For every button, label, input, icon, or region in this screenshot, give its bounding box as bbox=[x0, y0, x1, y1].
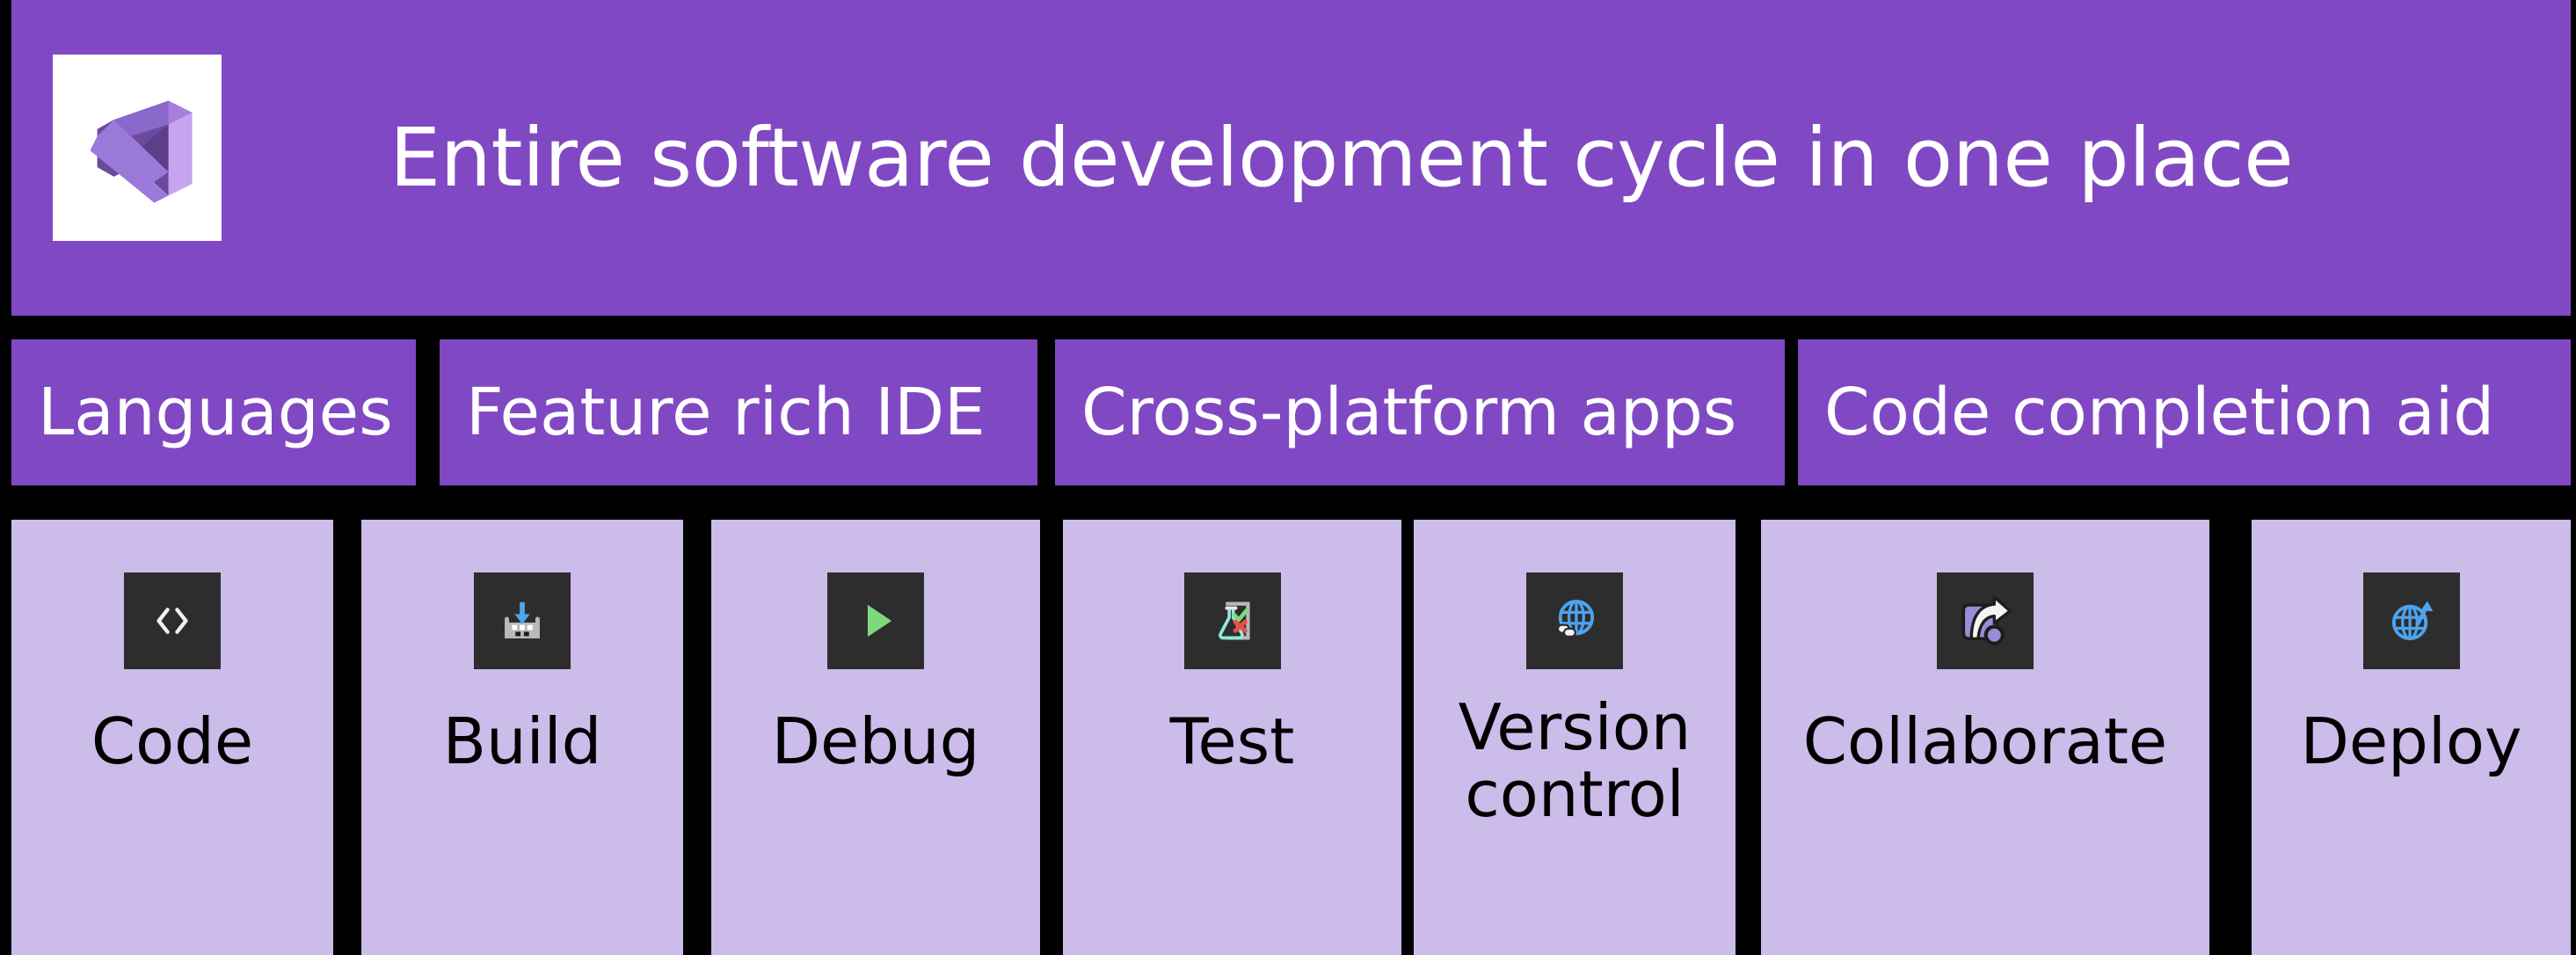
build-container-arrow-icon bbox=[474, 572, 571, 669]
category-tile-languages[interactable]: Languages bbox=[11, 339, 416, 485]
category-label: Feature rich IDE bbox=[440, 375, 986, 450]
category-label: Languages bbox=[11, 375, 393, 450]
card-label: Debug bbox=[765, 708, 987, 775]
category-tile-code-completion-aid[interactable]: Code completion aid bbox=[1798, 339, 2571, 485]
card-code[interactable]: Code bbox=[11, 520, 333, 955]
card-test[interactable]: Test bbox=[1063, 520, 1401, 955]
card-debug[interactable]: Debug bbox=[711, 520, 1040, 955]
card-deploy[interactable]: Deploy bbox=[2252, 520, 2571, 955]
globe-up-arrow-icon bbox=[2363, 572, 2460, 669]
test-flask-checkmark-icon bbox=[1184, 572, 1281, 669]
category-label: Cross-platform apps bbox=[1055, 375, 1736, 450]
card-label: Test bbox=[1163, 708, 1302, 775]
card-version-control[interactable]: Version control bbox=[1414, 520, 1736, 955]
card-label: Collaborate bbox=[1796, 708, 2174, 775]
card-build[interactable]: Build bbox=[361, 520, 683, 955]
card-label-line1: Version bbox=[1459, 690, 1692, 764]
card-label: Code bbox=[84, 708, 260, 775]
share-arrow-icon bbox=[1937, 572, 2034, 669]
code-brackets-icon bbox=[124, 572, 221, 669]
category-tile-feature-rich-ide[interactable]: Feature rich IDE bbox=[440, 339, 1037, 485]
page-title: Entire software development cycle in one… bbox=[389, 0, 2500, 316]
visual-studio-logo-tile bbox=[53, 55, 222, 241]
visual-studio-logo-icon bbox=[78, 89, 197, 208]
globe-link-icon bbox=[1526, 572, 1623, 669]
header-band: Entire software development cycle in one… bbox=[11, 0, 2571, 316]
play-triangle-icon bbox=[827, 572, 924, 669]
category-label: Code completion aid bbox=[1798, 375, 2494, 450]
category-tile-cross-platform-apps[interactable]: Cross-platform apps bbox=[1055, 339, 1785, 485]
card-label-line2: control bbox=[1465, 757, 1685, 831]
card-collaborate[interactable]: Collaborate bbox=[1761, 520, 2209, 955]
card-label: Build bbox=[436, 708, 609, 775]
card-label: Version control bbox=[1452, 694, 1699, 828]
card-label: Deploy bbox=[2293, 708, 2529, 775]
